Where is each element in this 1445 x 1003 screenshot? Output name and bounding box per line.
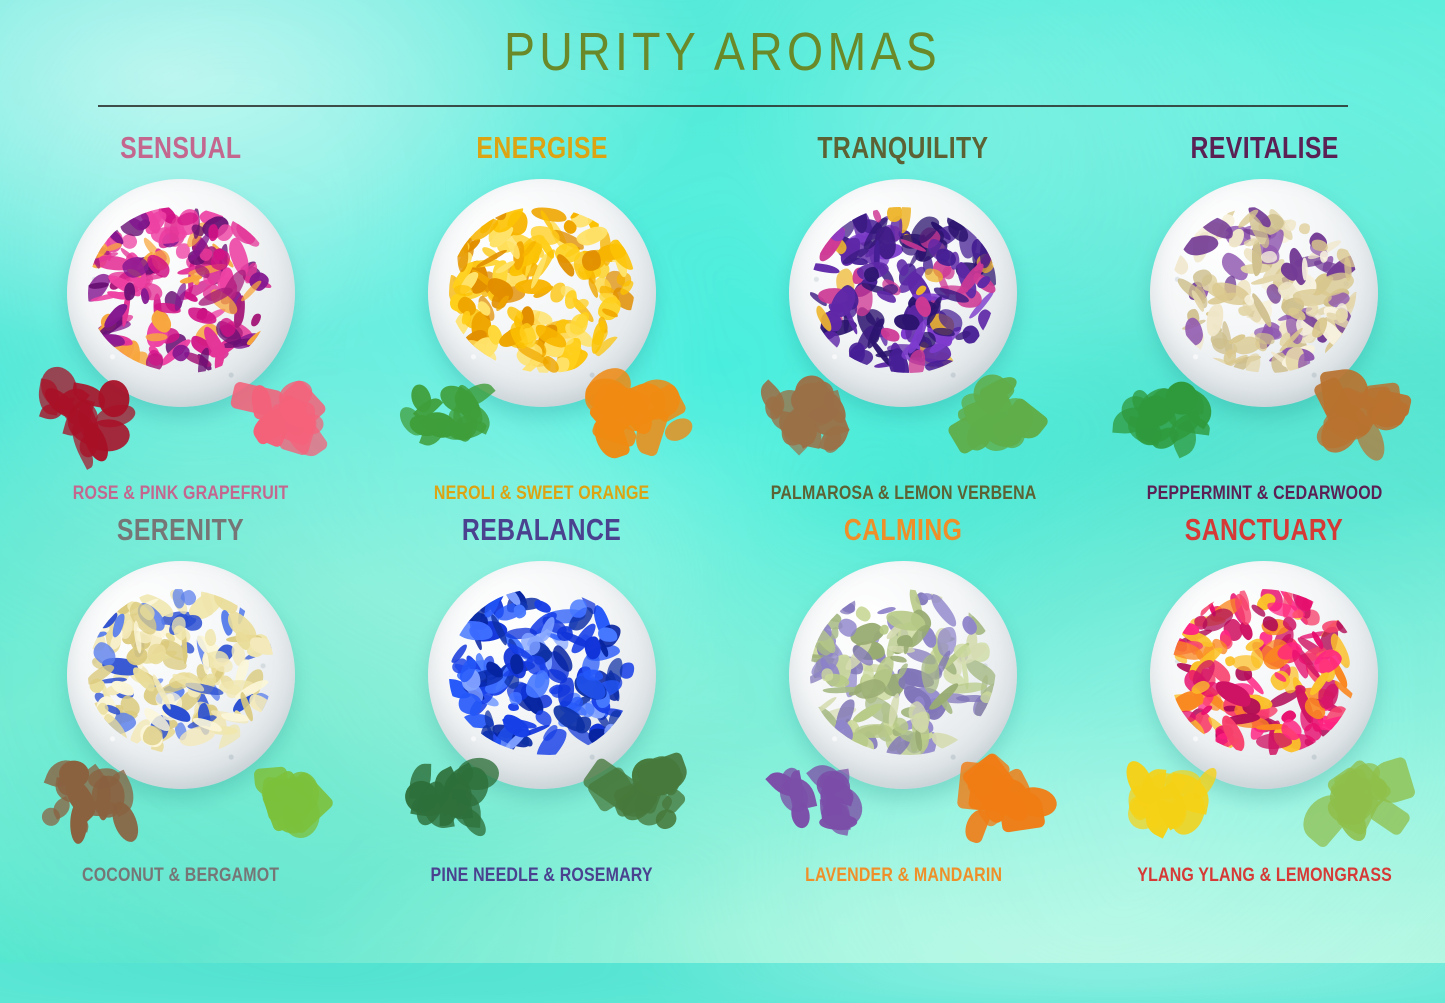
aroma-card-heading: REVITALISE xyxy=(1190,129,1338,167)
page-title: PURITY AROMAS xyxy=(101,24,1344,81)
accent-ingredient-right xyxy=(941,749,1051,837)
accent-piece xyxy=(819,815,858,830)
aroma-card-energise[interactable]: ENERGISENEROLI & SWEET ORANGE xyxy=(361,129,722,511)
aroma-card-heading: CALMING xyxy=(844,511,963,549)
aroma-card-caption: YLANG YLANG & LEMONGRASS xyxy=(1113,865,1416,887)
aroma-bowl-scene xyxy=(392,555,692,845)
accent-ingredient-right xyxy=(941,367,1051,455)
botanical-petal xyxy=(249,312,263,328)
accent-ingredient-right xyxy=(1302,367,1412,455)
accent-ingredient-right xyxy=(580,367,690,455)
aroma-bowl-scene xyxy=(31,555,331,845)
aroma-card-tranquility[interactable]: TRANQUILITYPALMAROSA & LEMON VERBENA xyxy=(723,129,1084,511)
accent-piece xyxy=(69,801,87,845)
aroma-bowl-scene xyxy=(1114,173,1414,463)
botanical-petal xyxy=(864,266,880,282)
aroma-card-sensual[interactable]: SENSUALROSE & PINK GRAPEFRUIT xyxy=(0,129,361,511)
botanical-petal xyxy=(921,654,940,693)
aroma-card-heading: SENSUAL xyxy=(120,129,241,167)
aroma-card-caption: PINE NEEDLE & ROSEMARY xyxy=(390,865,693,887)
aroma-card-heading: TRANQUILITY xyxy=(818,129,989,167)
accent-ingredient-left xyxy=(1116,369,1224,455)
accent-ingredient-right xyxy=(219,367,329,455)
accent-ingredient-left xyxy=(1116,751,1224,837)
accent-ingredient-right xyxy=(1302,749,1412,837)
aroma-card-heading: SANCTUARY xyxy=(1185,511,1343,549)
accent-ingredient-left xyxy=(33,369,141,455)
botanical-petal xyxy=(124,282,136,300)
accent-ingredient-left xyxy=(394,751,502,837)
botanical-heap xyxy=(1171,207,1357,373)
aroma-bowl-scene xyxy=(1114,555,1414,845)
aroma-bowl-scene xyxy=(31,173,331,463)
aroma-card-sanctuary[interactable]: SANCTUARYYLANG YLANG & LEMONGRASS xyxy=(1084,511,1445,893)
accent-ingredient-left xyxy=(394,369,502,455)
botanical-petal xyxy=(831,626,839,639)
aroma-card-caption: COCONUT & BERGAMOT xyxy=(29,865,332,887)
botanical-heap xyxy=(88,589,274,755)
botanical-petal xyxy=(1297,222,1311,237)
aroma-card-calming[interactable]: CALMINGLAVENDER & MANDARIN xyxy=(723,511,1084,893)
botanical-heap xyxy=(810,589,996,755)
accent-ingredient-right xyxy=(219,749,329,837)
botanical-petal xyxy=(1261,251,1277,263)
aroma-bowl-scene xyxy=(753,173,1053,463)
accent-piece xyxy=(230,381,284,418)
aroma-card-rebalance[interactable]: REBALANCEPINE NEEDLE & ROSEMARY xyxy=(361,511,722,893)
aroma-card-caption: PALMAROSA & LEMON VERBENA xyxy=(751,483,1054,505)
accent-ingredient-right xyxy=(580,749,690,837)
botanical-petal xyxy=(557,625,574,641)
accent-ingredient-left xyxy=(755,751,863,837)
botanical-petal xyxy=(1251,241,1261,277)
botanical-petal xyxy=(849,342,865,363)
aroma-card-serenity[interactable]: SERENITYCOCONUT & BERGAMOT xyxy=(0,511,361,893)
botanical-heap xyxy=(1171,589,1357,755)
aroma-card-heading: ENERGISE xyxy=(476,129,607,167)
poster-page: PURITY AROMAS SENSUALROSE & PINK GRAPEFR… xyxy=(0,0,1445,963)
aroma-card-heading: REBALANCE xyxy=(462,511,621,549)
botanical-heap xyxy=(88,207,274,373)
botanical-heap xyxy=(449,207,635,373)
accent-ingredient-left xyxy=(33,751,141,837)
poster-header: PURITY AROMAS xyxy=(0,0,1445,107)
aroma-card-caption: ROSE & PINK GRAPEFRUIT xyxy=(29,483,332,505)
aroma-bowl-scene xyxy=(392,173,692,463)
aroma-grid: SENSUALROSE & PINK GRAPEFRUITENERGISENER… xyxy=(0,129,1445,893)
botanical-petal xyxy=(853,604,873,624)
header-divider xyxy=(98,105,1348,107)
botanical-heap xyxy=(810,207,996,373)
aroma-card-revitalise[interactable]: REVITALISEPEPPERMINT & CEDARWOOD xyxy=(1084,129,1445,511)
aroma-bowl-scene xyxy=(753,555,1053,845)
aroma-card-caption: LAVENDER & MANDARIN xyxy=(751,865,1054,887)
accent-ingredient-left xyxy=(755,369,863,455)
botanical-petal xyxy=(1171,252,1190,277)
aroma-card-heading: SERENITY xyxy=(117,511,244,549)
botanical-petal xyxy=(810,261,840,276)
botanical-heap xyxy=(449,589,635,755)
aroma-card-caption: PEPPERMINT & CEDARWOOD xyxy=(1113,483,1416,505)
aroma-card-caption: NEROLI & SWEET ORANGE xyxy=(390,483,693,505)
